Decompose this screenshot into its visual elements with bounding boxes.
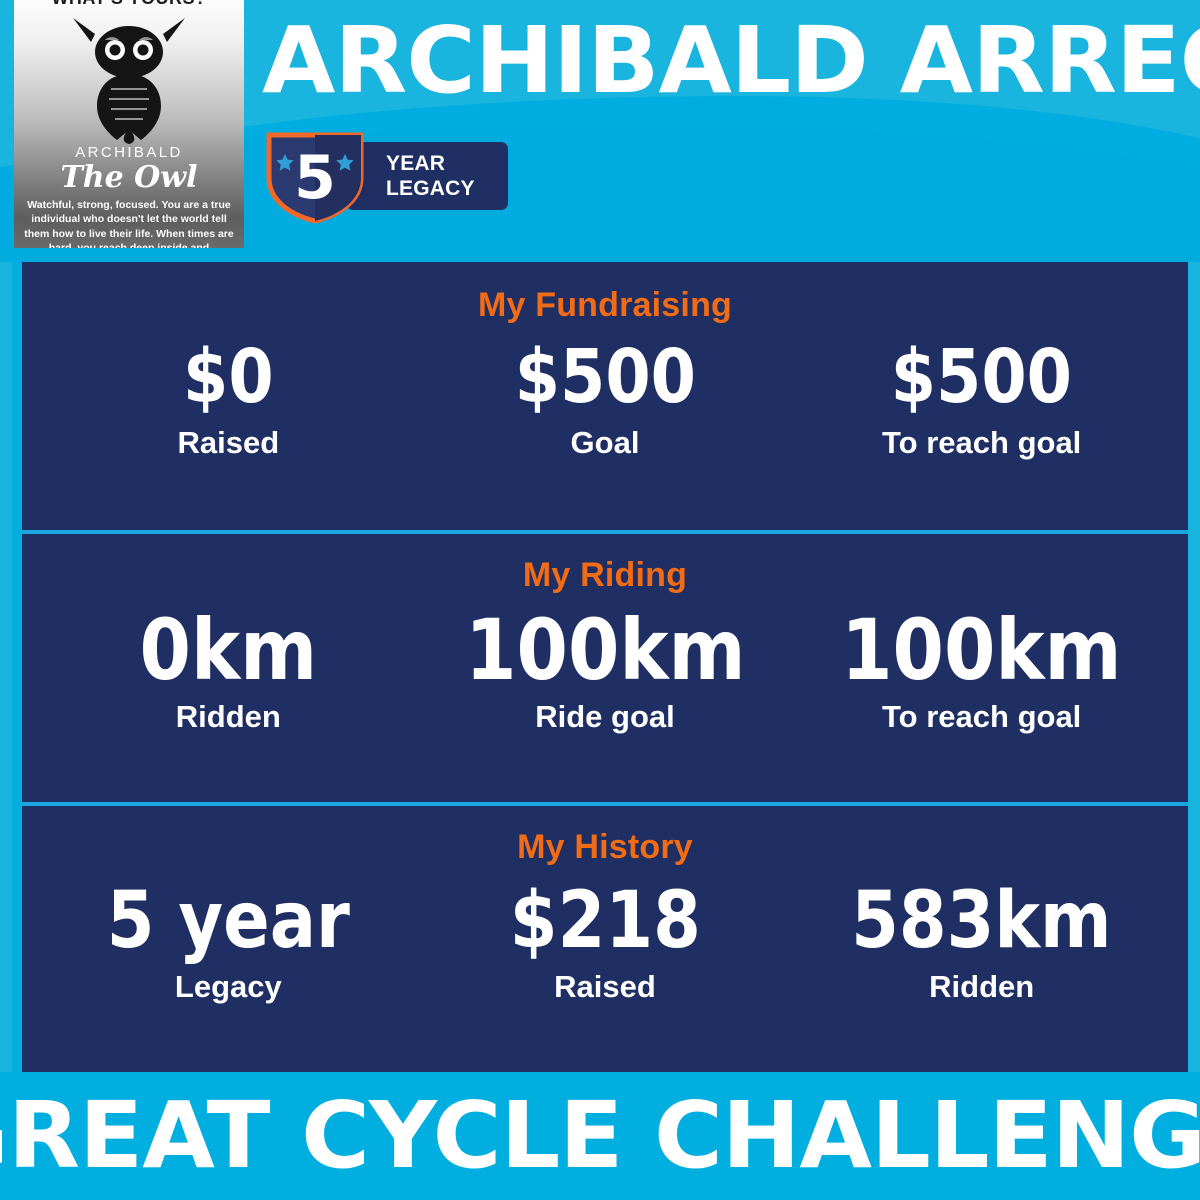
avatar-top-caption: WHAT'S YOURS? bbox=[14, 0, 244, 9]
stat-label-ridden: Ridden bbox=[40, 699, 417, 735]
avatar-description: Watchful, strong, focused. You are a tru… bbox=[22, 198, 236, 248]
section-title-history: My History bbox=[22, 806, 1188, 867]
avatar-subtitle: The Owl bbox=[14, 160, 244, 195]
page-title: ARCHIBALD ARREOLA bbox=[262, 8, 1200, 114]
section-my-history: My History 5 year Legacy $218 Raised 583… bbox=[22, 802, 1188, 1064]
stat-value-ride-goal: 100km bbox=[439, 603, 770, 697]
stat-value-history-raised: $218 bbox=[439, 877, 770, 965]
avatar: WHAT'S YOURS? bbox=[14, 0, 244, 248]
stat-label-ride-goal: Ride goal bbox=[417, 699, 794, 735]
legacy-badge-line1: YEAR bbox=[386, 151, 508, 176]
stat-history-raised: $218 Raised bbox=[417, 877, 794, 1005]
avatar-name: ARCHIBALD bbox=[14, 144, 244, 161]
brand-wordmark: GREAT CYCLE CHALLENGE bbox=[0, 1086, 1200, 1186]
stat-goal: $500 Goal bbox=[417, 335, 794, 461]
section-my-fundraising: My Fundraising $0 Raised $500 Goal $500 … bbox=[22, 262, 1188, 530]
stat-label-ride-to-reach-goal: To reach goal bbox=[793, 699, 1170, 735]
stats-panel: My Fundraising $0 Raised $500 Goal $500 … bbox=[12, 262, 1188, 1072]
stat-label-history-raised: Raised bbox=[417, 969, 794, 1005]
stat-label-to-reach-goal: To reach goal bbox=[793, 425, 1170, 461]
section-title-fundraising: My Fundraising bbox=[22, 262, 1188, 325]
stat-value-to-reach-goal: $500 bbox=[816, 335, 1147, 419]
footer-brand-bar: GREAT CYCLE CHALLENGE bbox=[0, 1072, 1200, 1200]
legacy-badge-plate: YEAR LEGACY bbox=[346, 142, 508, 210]
stat-label-history-ridden: Ridden bbox=[793, 969, 1170, 1005]
stat-value-goal: $500 bbox=[439, 335, 770, 419]
svg-text:5: 5 bbox=[294, 143, 336, 213]
stat-history-ridden: 583km Ridden bbox=[793, 877, 1170, 1005]
stats-row-history: 5 year Legacy $218 Raised 583km Ridden bbox=[22, 877, 1188, 1005]
stat-ridden: 0km Ridden bbox=[40, 603, 417, 735]
stat-label-goal: Goal bbox=[417, 425, 794, 461]
stat-raised: $0 Raised bbox=[40, 335, 417, 461]
stat-ride-goal: 100km Ride goal bbox=[417, 603, 794, 735]
stat-value-raised: $0 bbox=[63, 335, 394, 419]
stats-row-fundraising: $0 Raised $500 Goal $500 To reach goal bbox=[22, 335, 1188, 461]
owl-icon bbox=[14, 12, 244, 149]
stat-legacy: 5 year Legacy bbox=[40, 877, 417, 1005]
section-title-riding: My Riding bbox=[22, 534, 1188, 595]
stat-value-ridden: 0km bbox=[63, 603, 394, 697]
section-my-riding: My Riding 0km Ridden 100km Ride goal 100… bbox=[22, 530, 1188, 802]
header-banner: WHAT'S YOURS? bbox=[0, 0, 1200, 262]
stat-value-legacy: 5 year bbox=[63, 877, 394, 965]
stat-label-raised: Raised bbox=[40, 425, 417, 461]
stat-value-history-ridden: 583km bbox=[816, 877, 1147, 965]
stat-to-reach-goal: $500 To reach goal bbox=[793, 335, 1170, 461]
legacy-badge-line2: LEGACY bbox=[386, 176, 508, 201]
stat-value-ride-to-reach-goal: 100km bbox=[816, 603, 1147, 697]
stat-label-legacy: Legacy bbox=[40, 969, 417, 1005]
stat-ride-to-reach-goal: 100km To reach goal bbox=[793, 603, 1170, 735]
legacy-badge: YEAR LEGACY 5 bbox=[262, 132, 508, 224]
stats-row-riding: 0km Ridden 100km Ride goal 100km To reac… bbox=[22, 603, 1188, 735]
shield-icon: 5 bbox=[262, 132, 368, 224]
